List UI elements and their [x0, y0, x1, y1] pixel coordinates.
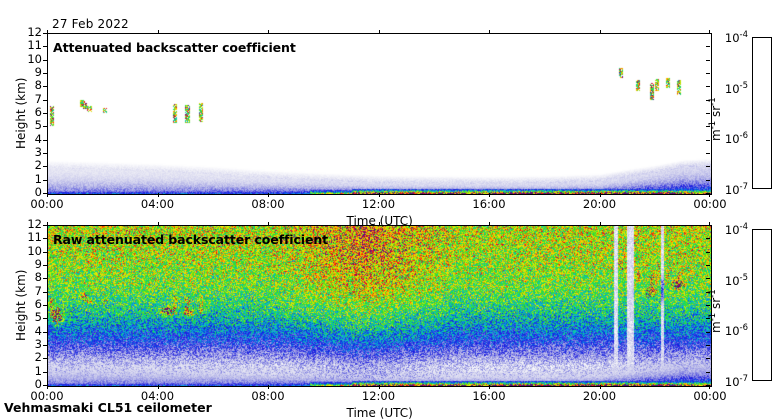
ytick-right-0-3	[706, 153, 710, 154]
ytick-right-0-11	[706, 46, 710, 47]
colorbar-tick-label-0-1: 10-5	[716, 81, 748, 96]
ytick-label-0-10: 10	[18, 54, 42, 66]
colorbar-tick-mantissa-2: 10	[725, 324, 740, 338]
panel-attenuated-backscatter-canvas	[48, 34, 711, 194]
ytick-right-0-2	[706, 166, 710, 167]
unit-exp1: -1	[708, 313, 718, 321]
xtick-label-1-2: 08:00	[243, 391, 293, 403]
ytick-label-1-10: 10	[18, 246, 42, 258]
ytick-right-1-2	[706, 358, 710, 359]
figure-root: 27 Feb 2022 Attenuated backscatter coeff…	[0, 0, 780, 420]
ytick-right-1-10	[706, 252, 710, 253]
ytick-1-10	[43, 252, 47, 253]
xtick-label-1-3: 12:00	[354, 391, 404, 403]
panel-raw-attenuated-backscatter-title: Raw attenuated backscatter coefficient	[53, 232, 328, 247]
ytick-right-0-10	[706, 60, 710, 61]
ytick-0-4	[43, 140, 47, 141]
colorbar-0	[752, 37, 772, 189]
ytick-1-8	[43, 278, 47, 279]
xtick-top-1-6	[709, 222, 710, 226]
xtick-label-0-0: 00:00	[22, 199, 72, 211]
colorbar-tick-exponent-3: -7	[740, 374, 748, 384]
ytick-right-1-11	[706, 238, 710, 239]
colorbar-1	[752, 229, 772, 381]
ytick-1-11	[43, 238, 47, 239]
panel-attenuated-backscatter	[47, 33, 712, 195]
xtick-label-0-4: 16:00	[464, 199, 514, 211]
ytick-right-1-1	[706, 372, 710, 373]
ytick-0-2	[43, 166, 47, 167]
xaxis-title-1: Time (UTC)	[347, 406, 413, 420]
ytick-1-2	[43, 358, 47, 359]
ytick-0-1	[43, 180, 47, 181]
colorbar-tick-mantissa-0: 10	[725, 31, 740, 45]
xtick-label-1-5: 20:00	[575, 391, 625, 403]
colorbar-tick-mantissa-1: 10	[725, 273, 740, 287]
ytick-0-10	[43, 60, 47, 61]
panel-attenuated-backscatter-title: Attenuated backscatter coefficient	[53, 40, 296, 55]
xtick-label-1-4: 16:00	[464, 391, 514, 403]
colorbar-tick-label-1-0: 10-4	[716, 222, 748, 237]
ytick-0-5	[43, 126, 47, 127]
xtick-label-0-5: 20:00	[575, 199, 625, 211]
xtick-top-0-1	[158, 30, 159, 34]
xtick-label-1-0: 00:00	[22, 391, 72, 403]
colorbar-tick-exponent-2: -6	[740, 131, 748, 141]
colorbar-tick-mantissa-2: 10	[725, 132, 740, 146]
colorbar-tick-label-0-0: 10-4	[716, 30, 748, 45]
yaxis-title-0: Height (km)	[14, 78, 28, 149]
xtick-top-0-0	[47, 30, 48, 34]
xtick-top-1-5	[600, 222, 601, 226]
colorbar-tick-exponent-3: -7	[740, 182, 748, 192]
unit-base: m	[709, 321, 723, 333]
ytick-label-0-12: 12	[18, 27, 42, 39]
xtick-top-0-4	[489, 30, 490, 34]
ytick-label-1-12: 12	[18, 219, 42, 231]
ytick-0-7	[43, 100, 47, 101]
xtick-top-1-2	[268, 222, 269, 226]
ytick-label-0-11: 11	[18, 40, 42, 52]
unit-base: m	[709, 129, 723, 141]
xtick-top-1-3	[379, 222, 380, 226]
colorbar-tick-exponent-2: -6	[740, 323, 748, 333]
colorbar-tick-exponent-1: -5	[740, 273, 748, 283]
xtick-label-0-3: 12:00	[354, 199, 404, 211]
ytick-right-0-8	[706, 86, 710, 87]
ytick-0-3	[43, 153, 47, 154]
xtick-label-0-6: 00:00	[685, 199, 735, 211]
xtick-label-0-1: 04:00	[133, 199, 183, 211]
colorbar-tick-mantissa-0: 10	[725, 223, 740, 237]
colorbar-tick-mantissa-1: 10	[725, 81, 740, 95]
colorbar-tick-label-1-1: 10-5	[716, 273, 748, 288]
ytick-label-1-2: 2	[18, 352, 42, 364]
colorbar-tick-exponent-1: -5	[740, 81, 748, 91]
unit-exp1: -1	[708, 121, 718, 129]
colorbar-tick-exponent-0: -4	[740, 222, 748, 232]
ytick-0-6	[43, 113, 47, 114]
xtick-label-0-2: 08:00	[243, 199, 293, 211]
xtick-top-1-0	[47, 222, 48, 226]
panel-raw-attenuated-backscatter-canvas	[48, 226, 711, 386]
ytick-right-0-1	[706, 180, 710, 181]
ytick-1-7	[43, 292, 47, 293]
unit-exp2: -1	[708, 289, 718, 297]
xtick-label-1-1: 04:00	[133, 391, 183, 403]
ytick-1-9	[43, 265, 47, 266]
ytick-1-5	[43, 318, 47, 319]
xtick-top-0-2	[268, 30, 269, 34]
ytick-0-9	[43, 73, 47, 74]
date-label: 27 Feb 2022	[52, 17, 129, 31]
xtick-top-0-5	[600, 30, 601, 34]
xtick-top-0-6	[709, 30, 710, 34]
ytick-label-1-11: 11	[18, 232, 42, 244]
ytick-label-0-1: 1	[18, 174, 42, 186]
xtick-label-1-6: 00:00	[685, 391, 735, 403]
ytick-right-1-3	[706, 345, 710, 346]
ytick-0-8	[43, 86, 47, 87]
unit-mid: sr	[709, 106, 723, 121]
ytick-label-1-1: 1	[18, 366, 42, 378]
colorbar-unit-1: m-1 sr-1	[708, 289, 723, 333]
yaxis-title-1: Height (km)	[14, 270, 28, 341]
panel-raw-attenuated-backscatter	[47, 225, 712, 387]
colorbar-tick-mantissa-3: 10	[725, 183, 740, 197]
ytick-right-1-9	[706, 265, 710, 266]
ytick-1-4	[43, 332, 47, 333]
xtick-top-1-4	[489, 222, 490, 226]
xtick-top-1-1	[158, 222, 159, 226]
unit-exp2: -1	[708, 97, 718, 105]
colorbar-tick-label-0-3: 10-7	[716, 182, 748, 197]
colorbar-tick-exponent-0: -4	[740, 30, 748, 40]
colorbar-tick-mantissa-3: 10	[725, 375, 740, 389]
ytick-right-1-8	[706, 278, 710, 279]
ytick-label-0-2: 2	[18, 160, 42, 172]
colorbar-tick-label-1-3: 10-7	[716, 374, 748, 389]
ytick-right-0-9	[706, 73, 710, 74]
ytick-0-11	[43, 46, 47, 47]
xtick-top-0-3	[379, 30, 380, 34]
colorbar-unit-0: m-1 sr-1	[708, 97, 723, 141]
unit-mid: sr	[709, 298, 723, 313]
ytick-1-3	[43, 345, 47, 346]
ytick-1-6	[43, 305, 47, 306]
ytick-1-1	[43, 372, 47, 373]
